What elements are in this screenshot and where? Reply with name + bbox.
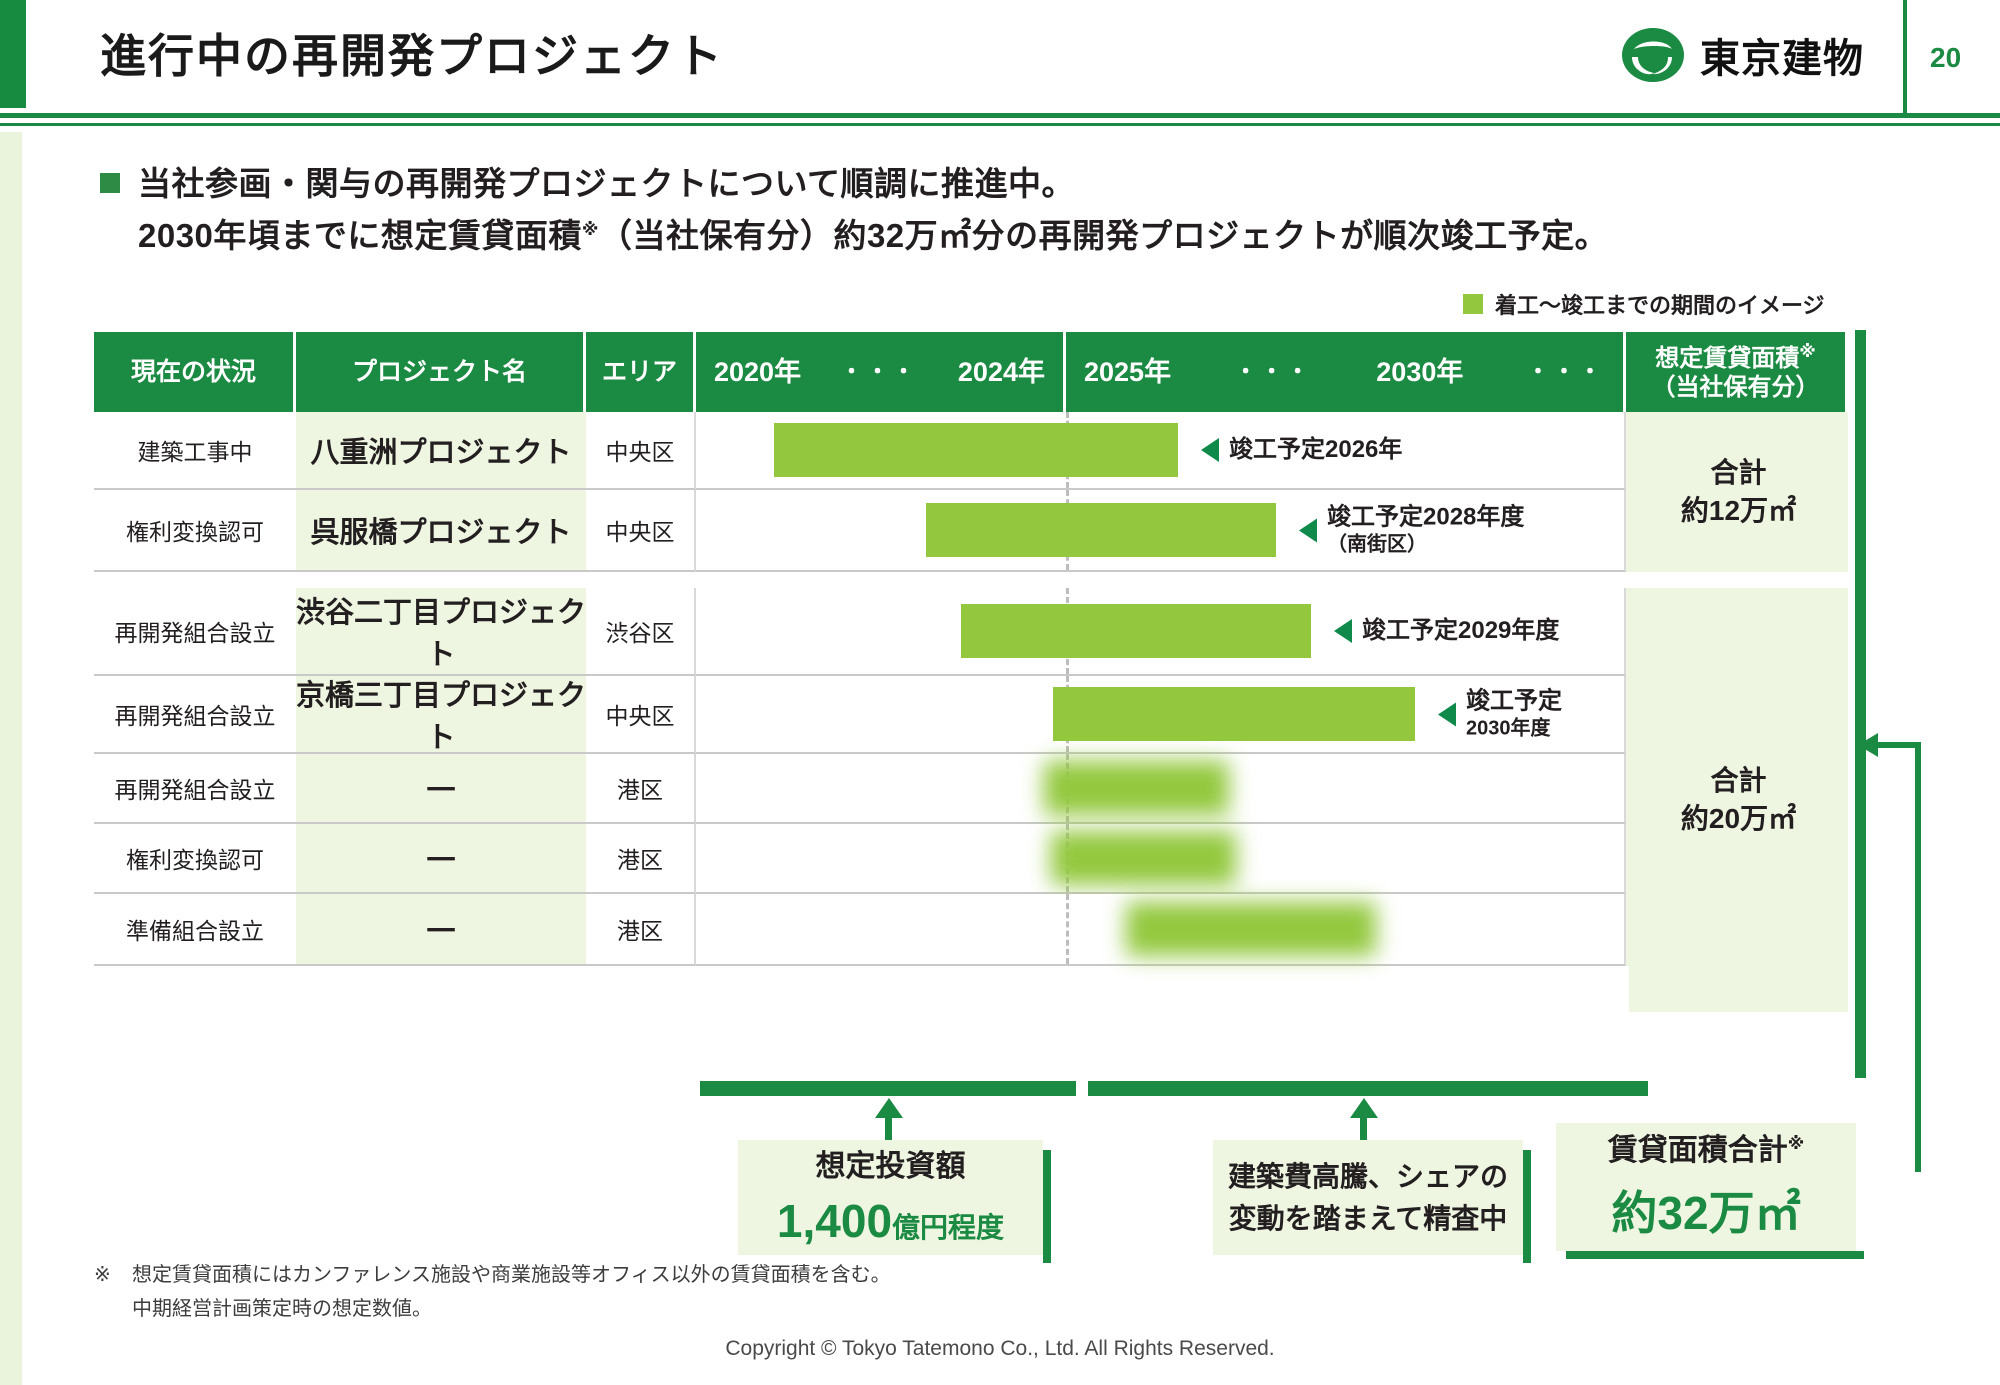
callout-review-line-2: 変動を踏まえて精査中: [1229, 1198, 1508, 1240]
period2-start-label: 2025年: [1084, 356, 1171, 388]
callout-total-area-value: 約32万㎡: [1611, 1177, 1800, 1243]
cell-area: 中央区: [586, 412, 696, 490]
cell-timeline: 竣工予定2028年度（南街区）: [696, 490, 1626, 572]
period1-dots: ・・・: [840, 359, 918, 385]
col-header-area: エリア: [586, 332, 696, 412]
projects-table: 現在の状況 プロジェクト名 エリア 2020年 ・・・ 2024年 2025年 …: [94, 332, 1848, 966]
cell-timeline: 竣工予定2029年度: [696, 588, 1626, 676]
page-title: 進行中の再開発プロジェクト: [100, 20, 724, 86]
legend-swatch-icon: [1463, 294, 1483, 314]
left-side-strip: [0, 132, 22, 1385]
cell-status: 準備組合設立: [94, 894, 296, 966]
cell-area: 港区: [586, 894, 696, 966]
arrow-head-review-icon: [1350, 1098, 1378, 1118]
callout-total-area: 賃貸面積合計※ 約32万㎡: [1556, 1123, 1856, 1251]
summary-title: 合計: [1681, 454, 1796, 492]
cell-status: 権利変換認可: [94, 490, 296, 572]
period2-mid-label: 2030年: [1376, 356, 1463, 388]
bullet-line-2-text-b: （当社保有分）約32万㎡分の再開発プロジェクトが順次竣工予定。: [599, 217, 1608, 254]
tokyo-tatemono-mark-icon: [1620, 27, 1686, 83]
gantt-bar: [1044, 761, 1229, 815]
cell-project-name: 京橋三丁目プロジェクト: [296, 676, 586, 754]
col-header-status: 現在の状況: [94, 332, 296, 412]
completion-label-text: 竣工予定2026年: [1229, 435, 1402, 465]
table-row: 再開発組合設立京橋三丁目プロジェクト中央区竣工予定2030年度: [94, 676, 1848, 754]
cell-project-name: 呉服橋プロジェクト: [296, 490, 586, 572]
cell-status: 権利変換認可: [94, 824, 296, 894]
footnote-text-2: 中期経営計画策定時の想定数値。: [132, 1298, 432, 1320]
callout-investment-number: 1,400: [777, 1195, 892, 1247]
completion-pointer-icon: [1299, 518, 1317, 542]
arrow-head-investment-icon: [875, 1098, 903, 1118]
summary-cell-group-1: 合計約12万㎡: [1629, 412, 1848, 572]
rentable-header-line-2: （当社保有分）: [1652, 374, 1820, 403]
header-rule-thin: [0, 123, 2000, 126]
timeline-underbar-right: [1088, 1081, 1648, 1096]
cell-project-name: 一: [296, 894, 586, 966]
right-bracket-group-2: [1855, 618, 1866, 1078]
header-rule-thick: [0, 113, 2000, 118]
completion-label-text: 竣工予定2028年度（南街区）: [1327, 503, 1524, 558]
timeline-divider: [1066, 894, 1069, 964]
cell-status: 再開発組合設立: [94, 588, 296, 676]
table-row: 権利変換認可一港区: [94, 824, 1848, 894]
cell-project-name: 一: [296, 824, 586, 894]
completion-pointer-icon: [1438, 702, 1456, 726]
period1-end-label: 2024年: [958, 356, 1045, 388]
copyright-line: Copyright © Tokyo Tatemono Co., Ltd. All…: [0, 1337, 2000, 1361]
callout-review: 建築費高騰、シェアの 変動を踏まえて精査中: [1213, 1140, 1523, 1255]
col-header-rentable-area: 想定賃貸面積※ （当社保有分）: [1626, 332, 1845, 412]
footnote-line-2: 中期経営計画策定時の想定数値。: [94, 1292, 891, 1326]
bullet-line-2: 2030年頃までに想定賃貸面積※（当社保有分）約32万㎡分の再開発プロジェクトが…: [138, 212, 1608, 260]
footnote-mark: ※: [94, 1258, 132, 1292]
summary-title: 合計: [1681, 762, 1796, 800]
completion-label: 竣工予定2030年度: [1438, 687, 1562, 742]
bullet-line-2-text-a: 2030年頃までに想定賃貸面積: [138, 217, 582, 254]
callout-investment-title: 想定投資額: [816, 1147, 966, 1188]
gantt-bar: [1051, 831, 1236, 885]
completion-label-text: 竣工予定2029年度: [1362, 616, 1559, 646]
cell-timeline: [696, 754, 1626, 824]
cell-project-name: 一: [296, 754, 586, 824]
cell-status: 再開発組合設立: [94, 754, 296, 824]
callout-total-area-edge: [1566, 1251, 1864, 1259]
col-header-period-2: 2025年 ・・・ 2030年 ・・・: [1066, 332, 1626, 412]
cell-area: 中央区: [586, 490, 696, 572]
period1-start-label: 2020年: [714, 356, 801, 388]
cell-area: 港区: [586, 754, 696, 824]
cell-area: 中央区: [586, 676, 696, 754]
bullet-line-2-footnote-mark: ※: [582, 220, 599, 239]
cell-timeline: [696, 824, 1626, 894]
gantt-bar: [926, 503, 1276, 557]
table-row: 準備組合設立一港区: [94, 894, 1848, 966]
table-header-row: 現在の状況 プロジェクト名 エリア 2020年 ・・・ 2024年 2025年 …: [94, 332, 1848, 412]
bullet-line-1: 当社参画・関与の再開発プロジェクトについて順調に推進中。: [138, 160, 1075, 208]
right-bracket-group-1: [1855, 330, 1866, 635]
cell-project-name: 八重洲プロジェクト: [296, 412, 586, 490]
table-row: 建築工事中八重洲プロジェクト中央区竣工予定2026年: [94, 412, 1848, 490]
legend: 着工〜竣工までの期間のイメージ: [1463, 288, 1825, 320]
completion-label: 竣工予定2029年度: [1334, 616, 1559, 646]
page-number: 20: [1930, 42, 1961, 74]
footnote-text-1: 想定賃貸面積にはカンファレンス施設や商業施設等オフィス以外の賃貸面積を含む。: [132, 1264, 891, 1286]
col-header-period-1: 2020年 ・・・ 2024年: [696, 332, 1066, 412]
table-row: 権利変換認可呉服橋プロジェクト中央区竣工予定2028年度（南街区）: [94, 490, 1848, 572]
cell-area: 港区: [586, 824, 696, 894]
table-row: 再開発組合設立渋谷二丁目プロジェクト渋谷区竣工予定2029年度: [94, 588, 1848, 676]
rentable-header-line-1: 想定賃貸面積※: [1655, 342, 1816, 374]
gantt-bar: [1126, 902, 1376, 956]
period2-dots-2: ・・・: [1527, 359, 1605, 385]
period2-dots: ・・・: [1235, 359, 1313, 385]
completion-label: 竣工予定2028年度（南街区）: [1299, 503, 1524, 558]
completion-label: 竣工予定2026年: [1201, 435, 1402, 465]
footnote-line-1: ※想定賃貸面積にはカンファレンス施設や商業施設等オフィス以外の賃貸面積を含む。: [94, 1258, 891, 1292]
completion-label-subtext: 2030年度: [1466, 717, 1562, 742]
cell-area: 渋谷区: [586, 588, 696, 676]
total-area-connector-horizontal: [1878, 742, 1918, 748]
footnotes: ※想定賃貸面積にはカンファレンス施設や商業施設等オフィス以外の賃貸面積を含む。 …: [94, 1258, 891, 1326]
logo-wordmark: 東京建物: [1700, 26, 1864, 84]
group-separator: [94, 572, 1848, 588]
summary-cell-group-2: 合計約20万㎡: [1629, 588, 1848, 1012]
company-logo: 東京建物: [1620, 26, 1864, 84]
callout-investment-edge: [1043, 1150, 1051, 1263]
col-header-project: プロジェクト名: [296, 332, 586, 412]
legend-label: 着工〜竣工までの期間のイメージ: [1495, 288, 1825, 320]
gantt-bar: [1053, 687, 1415, 741]
total-area-connector-vertical: [1915, 742, 1921, 1172]
cell-timeline: 竣工予定2026年: [696, 412, 1626, 490]
cell-status: 再開発組合設立: [94, 676, 296, 754]
gantt-bar: [774, 423, 1178, 477]
callout-investment-value: 1,400億円程度: [777, 1194, 1004, 1248]
completion-label-subtext: （南街区）: [1327, 533, 1524, 558]
completion-label-text: 竣工予定2030年度: [1466, 687, 1562, 742]
cell-status: 建築工事中: [94, 412, 296, 490]
table-row: 再開発組合設立一港区: [94, 754, 1848, 824]
gantt-bar: [961, 604, 1311, 658]
callout-review-line-1: 建築費高騰、シェアの: [1228, 1156, 1508, 1198]
summary-value: 約12万㎡: [1681, 492, 1796, 530]
header-left-accent-block: [0, 0, 26, 108]
summary-bullets: 当社参画・関与の再開発プロジェクトについて順調に推進中。 2030年頃までに想定…: [100, 160, 1608, 260]
header-vertical-divider: [1903, 0, 1907, 113]
timeline-underbar-left: [700, 1081, 1076, 1096]
callout-review-edge: [1523, 1150, 1531, 1263]
bullet-square-icon: [100, 173, 120, 193]
total-area-connector-arrow-icon: [1858, 733, 1878, 757]
table-body: 建築工事中八重洲プロジェクト中央区竣工予定2026年権利変換認可呉服橋プロジェク…: [94, 412, 1848, 966]
callout-investment: 想定投資額 1,400億円程度: [738, 1140, 1043, 1255]
summary-value: 約20万㎡: [1681, 800, 1796, 838]
completion-pointer-icon: [1201, 438, 1219, 462]
completion-pointer-icon: [1334, 619, 1352, 643]
callout-total-area-title: 賃貸面積合計※: [1608, 1131, 1805, 1172]
cell-timeline: 竣工予定2030年度: [696, 676, 1626, 754]
cell-project-name: 渋谷二丁目プロジェクト: [296, 588, 586, 676]
callout-investment-unit: 億円程度: [892, 1212, 1004, 1243]
cell-timeline: [696, 894, 1626, 966]
